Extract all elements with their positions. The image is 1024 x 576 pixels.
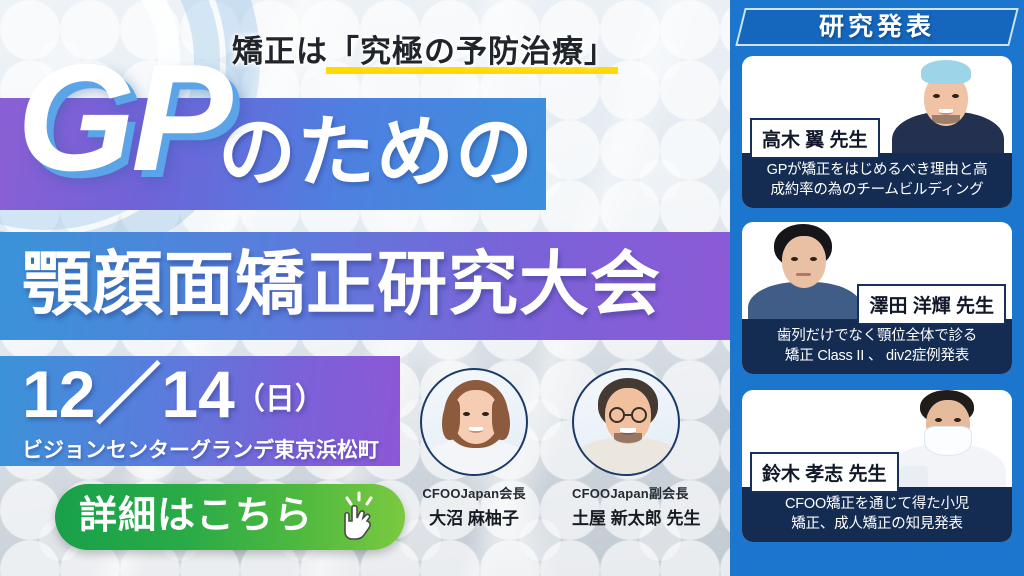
- portrait-illustration: [574, 370, 678, 474]
- speaker-topic: GPが矯正をはじめるべき理由と高 成約率の為のチームビルディング: [742, 153, 1012, 208]
- speaker-topic-line: 矯正 Class II 、 div2症例発表: [748, 346, 1006, 366]
- pointing-hand-cursor-icon: [333, 491, 385, 543]
- sidebar-banner-label: 研究発表: [740, 8, 1014, 46]
- speaker-topic-line: CFOO矯正を通じて得た小児: [748, 494, 1006, 514]
- speaker-topic-line: 歯列だけでなく顎位全体で診る: [748, 326, 1006, 346]
- gp-suffix-text: のための: [218, 96, 534, 208]
- speaker-card[interactable]: 澤田 洋輝 先生 歯列だけでなく顎位全体で診る 矯正 Class II 、 di…: [742, 222, 1012, 374]
- chairperson-card: CFOOJapan会長 大沼 麻柚子: [420, 368, 528, 529]
- avatar: [572, 368, 680, 476]
- event-date: 12／14（日）: [22, 358, 325, 436]
- chairperson-card: CFOOJapan副会長 土屋 新太郎 先生: [572, 368, 680, 529]
- gp-wordmark: GP: [17, 42, 229, 194]
- chairperson-caption: CFOOJapan副会長 土屋 新太郎 先生: [572, 483, 680, 529]
- speaker-topic-line: 矯正、成人矯正の知見発表: [748, 514, 1006, 534]
- speaker-name: 高木 翼 先生: [750, 118, 880, 159]
- speaker-topic: CFOO矯正を通じて得た小児 矯正、成人矯正の知見発表: [742, 487, 1012, 542]
- subtitle-prefix: 矯正は: [232, 34, 328, 69]
- speaker-topic: 歯列だけでなく顎位全体で診る 矯正 Class II 、 div2症例発表: [742, 319, 1012, 374]
- details-cta-label: 詳細はこちら: [79, 484, 313, 550]
- event-date-number: 12／14: [22, 357, 235, 431]
- page-title: 顎顔面矯正研究大会: [22, 232, 661, 340]
- chairperson-role: CFOOJapan副会長: [572, 483, 680, 502]
- event-date-weekday: （日）: [235, 383, 325, 416]
- speaker-topic-line: GPが矯正をはじめるべき理由と高: [748, 160, 1006, 180]
- promo-banner: 矯正は「究極の予防治療」 のための GP 顎顔面矯正研究大会 12／14（日） …: [0, 0, 1024, 576]
- details-cta-button[interactable]: 詳細はこちら: [55, 484, 405, 550]
- speaker-card[interactable]: 鈴木 孝志 先生 CFOO矯正を通じて得た小児 矯正、成人矯正の知見発表: [742, 390, 1012, 542]
- portrait-illustration: [422, 370, 526, 474]
- speaker-name: 澤田 洋輝 先生: [857, 284, 1006, 325]
- subtitle-highlight: 「究極の予防治療」: [328, 26, 616, 71]
- chairperson-name: 土屋 新太郎 先生: [572, 504, 680, 529]
- subtitle: 矯正は「究極の予防治療」: [232, 26, 616, 71]
- speaker-topic-line: 成約率の為のチームビルディング: [748, 180, 1006, 200]
- speaker-card[interactable]: 高木 翼 先生 GPが矯正をはじめるべき理由と高 成約率の為のチームビルディング: [742, 56, 1012, 208]
- speaker-name: 鈴木 孝志 先生: [750, 452, 899, 493]
- chairperson-caption: CFOOJapan会長 大沼 麻柚子: [420, 483, 528, 529]
- event-venue: ビジョンセンターグランデ東京浜松町: [22, 434, 379, 464]
- chairperson-name: 大沼 麻柚子: [420, 504, 528, 529]
- avatar: [420, 368, 528, 476]
- research-presentation-sidebar: 研究発表 高木 翼 先生 GPが矯正をはじめるべき理由と高 成約率の為のチームビ…: [730, 0, 1024, 576]
- chairperson-role: CFOOJapan会長: [420, 483, 528, 502]
- main-panel: 矯正は「究極の予防治療」 のための GP 顎顔面矯正研究大会 12／14（日） …: [0, 0, 730, 576]
